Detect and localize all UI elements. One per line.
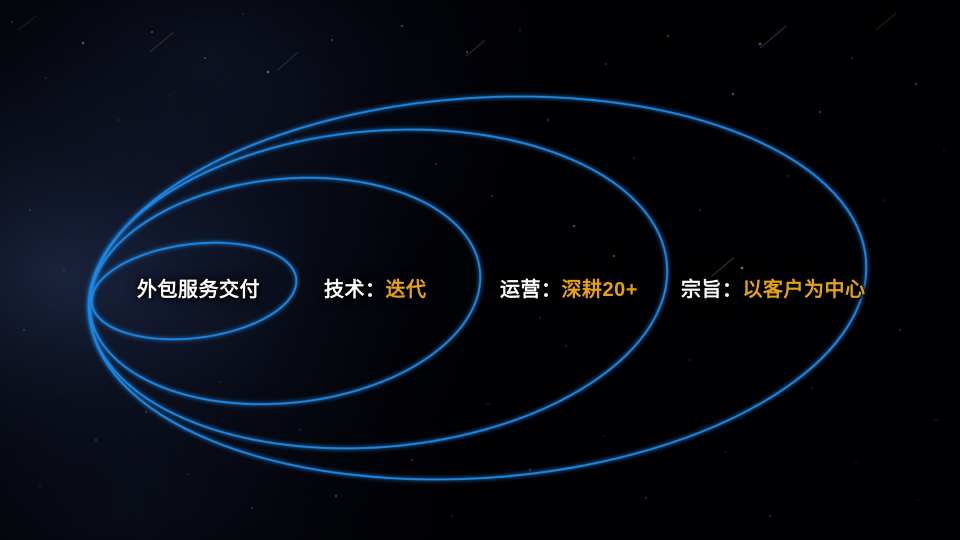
label-layer: 外包服务交付 技术：迭代 运营：深耕20+ 宗旨：以客户为中心 [0,0,960,540]
label-3-key: 宗旨 [681,279,722,301]
label-3-value: 以客户为中心 [743,279,866,301]
label-3-separator: ： [722,279,743,301]
presentation-slide: 外包服务交付 技术：迭代 运营：深耕20+ 宗旨：以客户为中心 [0,0,960,540]
label-2-value: 深耕20+ [562,279,638,301]
label-0-text: 外包服务交付 [137,279,260,301]
label-outsourcing-delivery[interactable]: 外包服务交付 [137,280,260,300]
label-1-separator: ： [365,279,386,301]
label-1-key: 技术 [324,279,365,301]
label-2-key: 运营 [500,279,541,301]
label-mission-customer-centric[interactable]: 宗旨：以客户为中心 [681,280,866,300]
label-1-value: 迭代 [386,279,427,301]
label-operations-depth[interactable]: 运营：深耕20+ [500,280,638,300]
label-technology-iteration[interactable]: 技术：迭代 [324,280,427,300]
label-2-separator: ： [541,279,562,301]
